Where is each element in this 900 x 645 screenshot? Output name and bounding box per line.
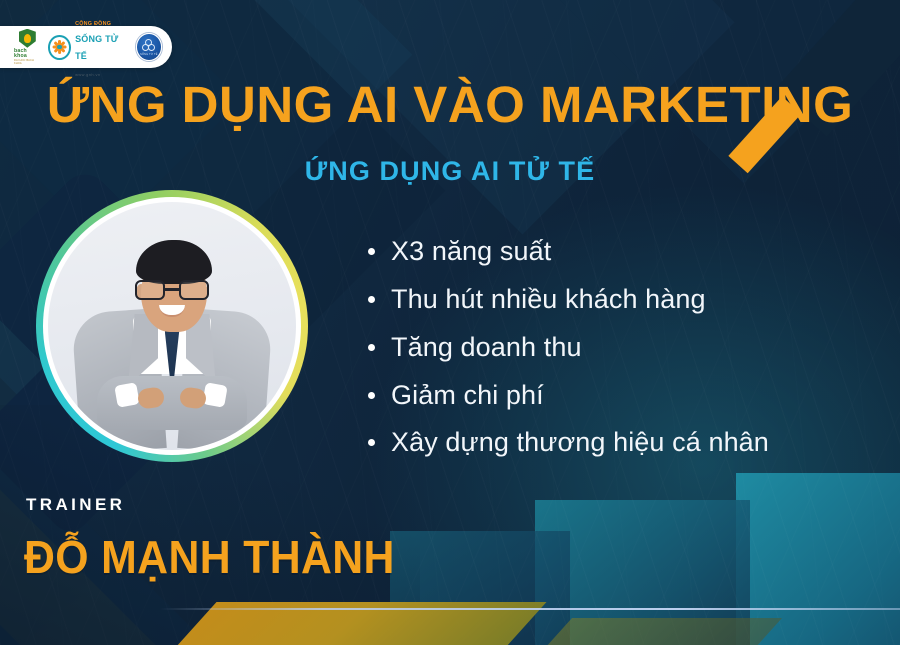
horizontal-accent-line bbox=[160, 608, 900, 610]
banner-title: ỨNG DỤNG AI VÀO MARKETING bbox=[0, 78, 900, 131]
trainer-portrait bbox=[36, 190, 308, 462]
benefit-text: Xây dựng thương hiệu cá nhân bbox=[391, 427, 769, 459]
song-tu-te-badge-logo: SỐNG TỬ TẾ bbox=[136, 33, 162, 61]
banner-subtitle: ỨNG DỤNG AI TỬ TẾ bbox=[0, 157, 900, 187]
list-item: X3 năng suất bbox=[368, 236, 888, 268]
gnh-line2: SỐNG TỬ TẾ bbox=[75, 34, 118, 61]
list-item: Giảm chi phí bbox=[368, 380, 888, 412]
trainer-name: ĐỖ MẠNH THÀNH bbox=[24, 530, 395, 584]
benefits-list: X3 năng suất Thu hút nhiều khách hàng Tă… bbox=[368, 236, 888, 475]
list-item: Tăng doanh thu bbox=[368, 332, 888, 364]
gnh-line1: CỘNG ĐỒNG bbox=[75, 21, 111, 27]
bullet-dot-icon bbox=[368, 392, 375, 399]
bach-khoa-crest-icon bbox=[19, 29, 36, 48]
list-item: Xây dựng thương hiệu cá nhân bbox=[368, 427, 888, 459]
promo-banner: bach khoa DAI HOC BACH KHOA CỘNG ĐỒNG SỐ… bbox=[0, 0, 900, 645]
badge-caption: SỐNG TỬ TẾ bbox=[140, 53, 158, 56]
gnh-flower-icon bbox=[48, 35, 71, 60]
benefit-text: Giảm chi phí bbox=[391, 380, 544, 412]
trinity-knot-icon bbox=[142, 39, 155, 52]
trainer-photo bbox=[48, 202, 296, 450]
bullet-dot-icon bbox=[368, 296, 375, 303]
benefit-text: Thu hút nhiều khách hàng bbox=[391, 284, 706, 316]
bach-khoa-logo: bach khoa DAI HOC BACH KHOA bbox=[14, 29, 41, 66]
glasses-icon bbox=[135, 280, 209, 300]
benefit-text: X3 năng suất bbox=[391, 236, 551, 268]
bullet-dot-icon bbox=[368, 248, 375, 255]
bach-khoa-tagline: DAI HOC BACH KHOA bbox=[14, 60, 41, 65]
gnh-logo: CỘNG ĐỒNG SỐNG TỬ TẾ www.gnh.vn bbox=[48, 13, 129, 80]
trainer-figure bbox=[48, 202, 296, 450]
list-item: Thu hút nhiều khách hàng bbox=[368, 284, 888, 316]
bullet-dot-icon bbox=[368, 439, 375, 446]
logo-bar: bach khoa DAI HOC BACH KHOA CỘNG ĐỒNG SỐ… bbox=[0, 26, 172, 68]
benefit-text: Tăng doanh thu bbox=[391, 332, 582, 364]
bullet-dot-icon bbox=[368, 344, 375, 351]
trainer-label: TRAINER bbox=[26, 495, 125, 515]
